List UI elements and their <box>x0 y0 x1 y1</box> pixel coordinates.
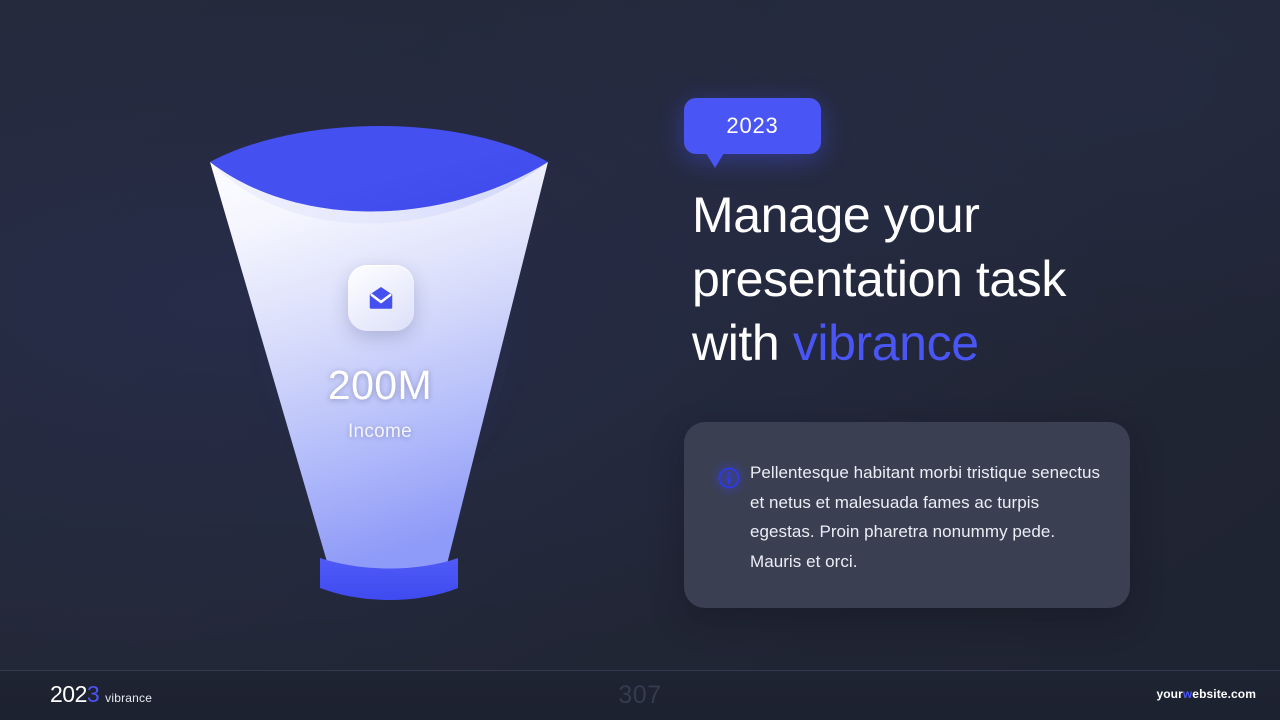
funnel-body <box>210 162 548 581</box>
info-circle-icon <box>717 466 741 490</box>
info-card: Pellentesque habitant morbi tristique se… <box>684 422 1130 608</box>
slide-canvas: 200M Income 2023 Manage your presentatio… <box>0 0 1280 720</box>
headline-line-3-prefix: with <box>692 315 793 371</box>
year-badge-tail <box>706 153 724 168</box>
funnel-icon-badge <box>348 265 414 331</box>
headline-line-1: Manage your <box>692 187 979 243</box>
headline-line-2: presentation task <box>692 251 1066 307</box>
year-badge[interactable]: 2023 <box>684 98 821 154</box>
year-badge-label: 2023 <box>726 113 778 139</box>
envelope-icon <box>366 283 396 313</box>
page-title: Manage your presentation task with vibra… <box>692 183 1132 375</box>
funnel-svg <box>170 110 610 610</box>
info-card-body: Pellentesque habitant morbi tristique se… <box>750 458 1102 576</box>
headline-accent-word: vibrance <box>793 315 979 371</box>
page-number: 307 <box>0 681 1280 710</box>
funnel-graphic: 200M Income <box>170 110 610 610</box>
